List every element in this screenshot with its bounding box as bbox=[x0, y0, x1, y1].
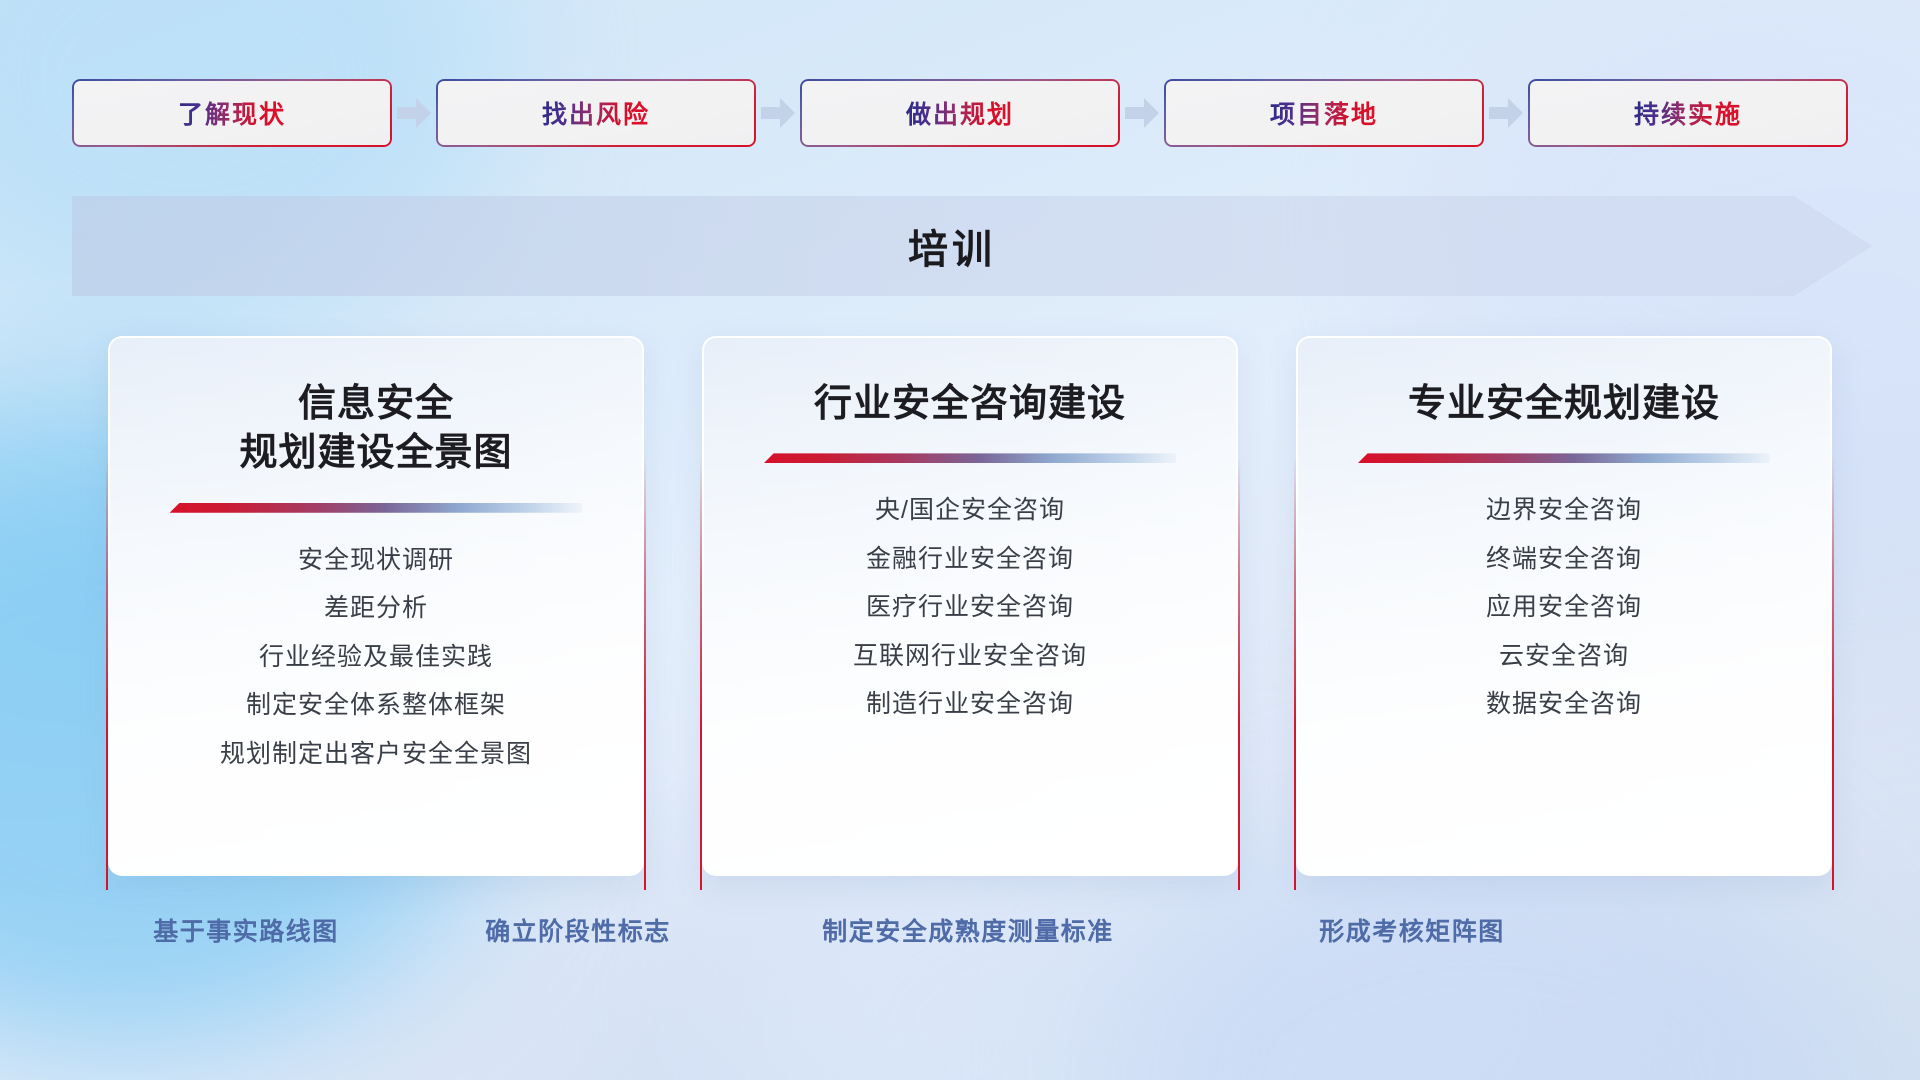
list-item: 边界安全咨询 bbox=[1486, 489, 1642, 532]
step-box-3[interactable]: 做出规划 bbox=[800, 79, 1120, 147]
list-item: 数据安全咨询 bbox=[1486, 683, 1642, 726]
card-row: 信息安全 规划建设全景图 安全现状调研 差距分析 行业经验及最佳实践 制定安全体… bbox=[108, 336, 1832, 876]
caption-2: 确立阶段性标志 bbox=[485, 912, 671, 948]
caption-4: 形成考核矩阵图 bbox=[1319, 912, 1505, 948]
list-item: 行业经验及最佳实践 bbox=[259, 636, 493, 679]
step-label-5: 持续实施 bbox=[1634, 95, 1742, 131]
list-item: 医疗行业安全咨询 bbox=[866, 586, 1074, 629]
step-arrow-3 bbox=[1120, 93, 1164, 133]
card-list-2: 央/国企安全咨询 金融行业安全咨询 医疗行业安全咨询 互联网行业安全咨询 制造行… bbox=[730, 489, 1210, 726]
step-arrow-2 bbox=[756, 93, 800, 133]
list-item: 规划制定出客户安全全景图 bbox=[220, 733, 532, 776]
card-accent-right-2 bbox=[1238, 456, 1240, 890]
step-label-3: 做出规划 bbox=[906, 95, 1014, 131]
card-accent-right-1 bbox=[644, 456, 646, 890]
list-item: 应用安全咨询 bbox=[1486, 586, 1642, 629]
process-step-row: 了解现状 找出风险 做出规划 项目落地 bbox=[72, 78, 1848, 148]
step-label-2: 找出风险 bbox=[542, 95, 650, 131]
caption-row: 基于事实路线图 确立阶段性标志 制定安全成熟度测量标准 形成考核矩阵图 bbox=[0, 912, 1920, 958]
card-wrap-1: 信息安全 规划建设全景图 安全现状调研 差距分析 行业经验及最佳实践 制定安全体… bbox=[108, 336, 644, 876]
card-list-3: 边界安全咨询 终端安全咨询 应用安全咨询 云安全咨询 数据安全咨询 bbox=[1324, 489, 1804, 726]
banner-label: 培训 bbox=[72, 196, 1872, 296]
list-item: 终端安全咨询 bbox=[1486, 538, 1642, 581]
list-item: 制造行业安全咨询 bbox=[866, 683, 1074, 726]
card-1[interactable]: 信息安全 规划建设全景图 安全现状调研 差距分析 行业经验及最佳实践 制定安全体… bbox=[108, 336, 644, 876]
list-item: 安全现状调研 bbox=[298, 539, 454, 582]
list-item: 云安全咨询 bbox=[1499, 635, 1629, 678]
card-divider-2 bbox=[764, 453, 1177, 463]
caption-3: 制定安全成熟度测量标准 bbox=[822, 912, 1114, 948]
step-arrow-4 bbox=[1484, 93, 1528, 133]
card-wrap-3: 专业安全规划建设 边界安全咨询 终端安全咨询 应用安全咨询 云安全咨询 数据安全… bbox=[1296, 336, 1832, 876]
card-divider-1 bbox=[170, 503, 583, 513]
step-label-1: 了解现状 bbox=[178, 95, 286, 131]
card-list-1: 安全现状调研 差距分析 行业经验及最佳实践 制定安全体系整体框架 规划制定出客户… bbox=[136, 539, 616, 776]
list-item: 互联网行业安全咨询 bbox=[853, 635, 1087, 678]
card-accent-right-3 bbox=[1832, 456, 1834, 890]
card-title-3: 专业安全规划建设 bbox=[1408, 380, 1720, 429]
list-item: 央/国企安全咨询 bbox=[875, 489, 1065, 532]
card-divider-3 bbox=[1358, 453, 1771, 463]
card-2[interactable]: 行业安全咨询建设 央/国企安全咨询 金融行业安全咨询 医疗行业安全咨询 互联网行… bbox=[702, 336, 1238, 876]
list-item: 制定安全体系整体框架 bbox=[246, 684, 506, 727]
step-box-4[interactable]: 项目落地 bbox=[1164, 79, 1484, 147]
slide-canvas: 了解现状 找出风险 做出规划 项目落地 bbox=[0, 0, 1920, 1080]
step-arrow-1 bbox=[392, 93, 436, 133]
training-banner: 培训 bbox=[72, 196, 1872, 296]
step-label-4: 项目落地 bbox=[1270, 95, 1378, 131]
caption-1: 基于事实路线图 bbox=[153, 912, 339, 948]
card-title-1: 信息安全 规划建设全景图 bbox=[239, 380, 512, 479]
card-title-2: 行业安全咨询建设 bbox=[814, 380, 1126, 429]
step-box-2[interactable]: 找出风险 bbox=[436, 79, 756, 147]
card-3[interactable]: 专业安全规划建设 边界安全咨询 终端安全咨询 应用安全咨询 云安全咨询 数据安全… bbox=[1296, 336, 1832, 876]
list-item: 金融行业安全咨询 bbox=[866, 538, 1074, 581]
list-item: 差距分析 bbox=[324, 587, 428, 630]
card-wrap-2: 行业安全咨询建设 央/国企安全咨询 金融行业安全咨询 医疗行业安全咨询 互联网行… bbox=[702, 336, 1238, 876]
step-box-1[interactable]: 了解现状 bbox=[72, 79, 392, 147]
step-box-5[interactable]: 持续实施 bbox=[1528, 79, 1848, 147]
